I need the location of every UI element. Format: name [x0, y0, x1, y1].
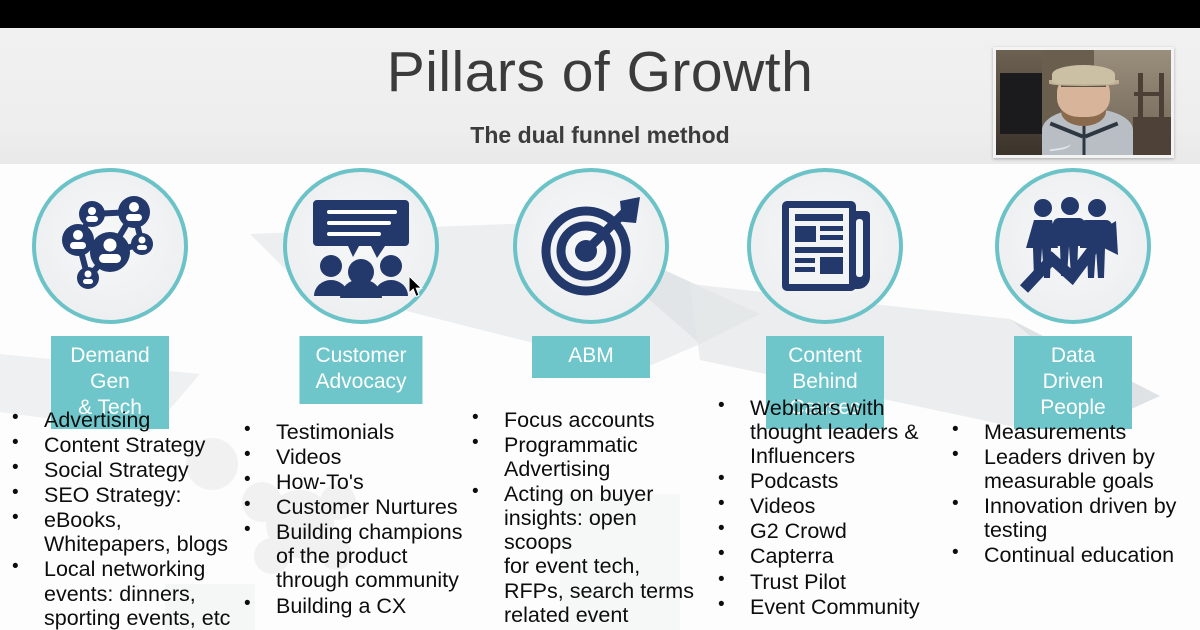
list-item: Trust Pilot: [712, 570, 952, 594]
list-item: Innovation driven by testing: [946, 494, 1196, 542]
list-item: Webinars with thought leaders & Influenc…: [712, 396, 952, 468]
list-item: How-To's: [238, 470, 474, 494]
presenter-video-feed[interactable]: [993, 47, 1174, 158]
presentation-slide: Pillars of Growth The dual funnel method: [0, 28, 1200, 630]
list-item: Testimonials: [238, 420, 474, 444]
list-item: Measurements: [946, 420, 1196, 444]
bullet-list-demand-gen-tech: Advertising Content Strategy Social Stra…: [6, 408, 244, 630]
list-item: eBooks, Whitepapers, blogs: [6, 508, 244, 556]
newspaper-icon: [747, 168, 903, 324]
list-item: Programmatic Advertising: [466, 433, 710, 481]
list-item: Focus accounts: [466, 408, 710, 432]
list-item: Local networking events: dinners, sporti…: [6, 557, 244, 629]
bullet-list-content-behind-causes: Webinars with thought leaders & Influenc…: [712, 396, 952, 620]
bullet-list-customer-advocacy: Testimonials Videos How-To's Customer Nu…: [238, 420, 474, 619]
list-item: Customer Nurtures: [238, 495, 474, 519]
webcam-image: [996, 50, 1171, 155]
list-item: Content Strategy: [6, 433, 244, 457]
list-item: Social Strategy: [6, 458, 244, 482]
list-item: G2 Crowd: [712, 519, 952, 543]
bullet-list-abm: Focus accounts Programmatic Advertising …: [466, 408, 710, 630]
screen: Pillars of Growth The dual funnel method: [0, 0, 1200, 630]
list-item: Building a CX: [238, 594, 474, 618]
list-item: Building champions of the product throug…: [238, 520, 474, 592]
list-item: Leaders driven by measurable goals: [946, 445, 1196, 493]
list-item: Podcasts: [712, 469, 952, 493]
bullet-list-data-driven-people: Measurements Leaders driven by measurabl…: [946, 420, 1196, 568]
pillar-label: Data Driven People: [1014, 336, 1132, 429]
letterbox-top-bar: [0, 0, 1200, 28]
list-item: Event Community: [712, 595, 952, 619]
list-item: SEO Strategy:: [6, 483, 244, 507]
target-arrow-icon: [513, 168, 669, 324]
list-item: Advertising: [6, 408, 244, 432]
list-item: Videos: [238, 445, 474, 469]
list-item: Continual education: [946, 543, 1196, 567]
list-item: Videos: [712, 494, 952, 518]
speech-bubble-people-icon: [283, 168, 439, 324]
pillar-label: ABM: [532, 336, 650, 378]
pillars-body: Demand Gen & Tech: [0, 164, 1200, 630]
pillar-label: Customer Advocacy: [299, 336, 422, 404]
list-item: Capterra: [712, 544, 952, 568]
people-growth-chart-icon: [995, 168, 1151, 324]
list-item: Acting on buyer insights: open scoops fo…: [466, 482, 710, 630]
network-nodes-icon: [32, 168, 188, 324]
